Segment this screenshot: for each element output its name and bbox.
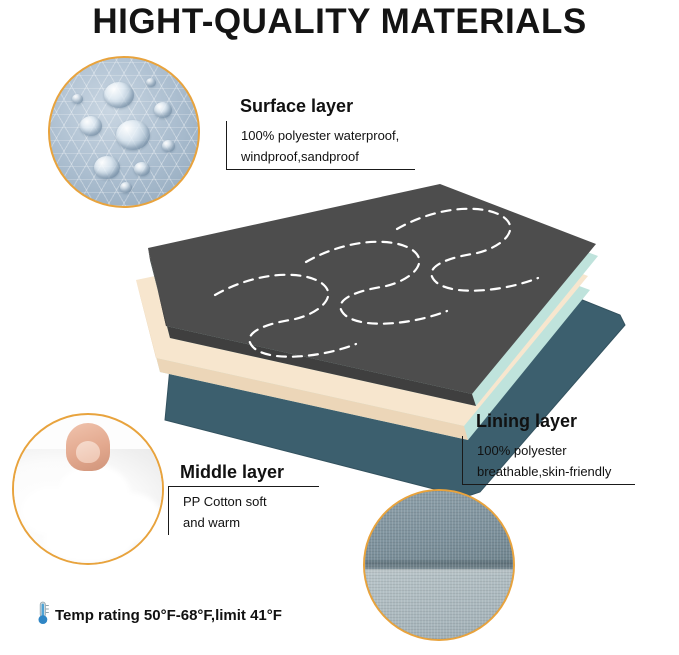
- droplet-icon: [134, 162, 150, 176]
- droplet-icon: [120, 182, 132, 193]
- pp-cotton-fluff-photo: [12, 413, 164, 565]
- callout-middle-line-1: PP Cotton soft: [183, 491, 313, 512]
- droplet-icon: [116, 120, 150, 150]
- callout-middle-body: PP Cotton soft and warm: [168, 486, 319, 535]
- temp-rating-row: Temp rating 50°F-68°F,limit 41°F: [36, 601, 282, 630]
- callout-surface-body: 100% polyester waterproof, windproof,san…: [226, 121, 415, 170]
- callout-lining-line-2: breathable,skin-friendly: [477, 461, 629, 482]
- callout-surface-line-2: windproof,sandproof: [241, 146, 409, 167]
- water-droplets-fabric-photo: [48, 56, 200, 208]
- droplet-icon: [104, 82, 134, 108]
- thermometer-icon: [36, 601, 50, 630]
- callout-middle-line-2: and warm: [183, 512, 313, 533]
- callout-lining-line-1: 100% polyester: [477, 440, 629, 461]
- callout-surface-heading: Surface layer: [226, 96, 415, 117]
- droplet-icon: [154, 102, 172, 118]
- page-title: HIGHT-QUALITY MATERIALS: [0, 2, 679, 42]
- weave-texture: [365, 491, 513, 639]
- droplet-icon: [162, 140, 175, 152]
- callout-middle-layer: Middle layer PP Cotton soft and warm: [168, 462, 319, 535]
- woven-lining-fabric-photo: [363, 489, 515, 641]
- fingernail-icon: [76, 441, 100, 463]
- callout-lining-body: 100% polyester breathable,skin-friendly: [462, 436, 635, 485]
- temp-rating-text: Temp rating 50°F-68°F,limit 41°F: [55, 607, 282, 624]
- callout-middle-heading: Middle layer: [168, 462, 319, 483]
- callout-lining-heading: Lining layer: [462, 411, 635, 432]
- callout-lining-layer: Lining layer 100% polyester breathable,s…: [462, 411, 635, 485]
- callout-surface-layer: Surface layer 100% polyester waterproof,…: [226, 96, 415, 170]
- droplet-icon: [146, 78, 156, 87]
- cotton-puff: [44, 519, 134, 563]
- callout-surface-line-1: 100% polyester waterproof,: [241, 125, 409, 146]
- droplet-icon: [72, 94, 83, 104]
- droplet-icon: [80, 116, 102, 136]
- droplet-icon: [94, 156, 120, 179]
